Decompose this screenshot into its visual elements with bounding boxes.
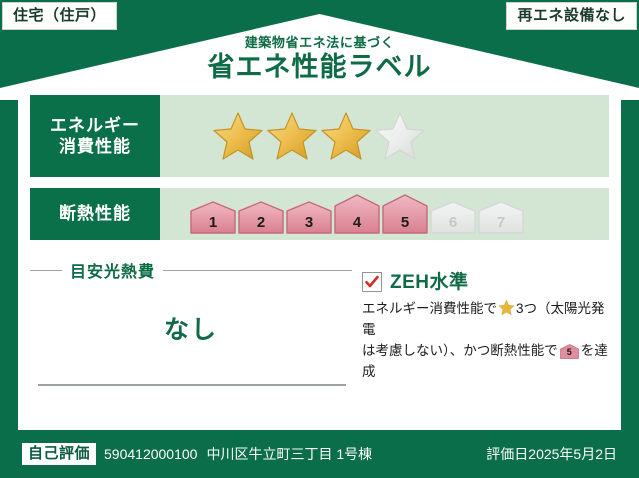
house-strip: 1234567 <box>190 194 526 234</box>
star-icon-filled <box>212 111 264 161</box>
footer-address: 中川区牛立町三丁目 1号棟 <box>206 444 372 464</box>
energy-performance-row: エネルギー 消費性能 <box>30 95 609 177</box>
star-icon-empty <box>374 111 426 161</box>
utility-cost-caption: 目安光熱費 <box>62 258 163 282</box>
self-evaluation-badge: 自己評価 <box>22 443 96 466</box>
badge-building-type: 住宅（住戸） <box>2 2 117 30</box>
energy-performance-label-line1: エネルギー <box>50 115 140 136</box>
check-icon <box>364 274 380 290</box>
house-level-2: 2 <box>238 201 284 234</box>
footer-bar: 自己評価 590412000100 中川区牛立町三丁目 1号棟 評価日2025年… <box>0 430 639 478</box>
house-icon-inline-number: 5 <box>560 348 579 357</box>
star-icon-filled <box>266 111 318 161</box>
house-level-number: 2 <box>238 215 284 230</box>
lower-section: 目安光熱費 なし ZEH水準 エネルギー消費性能で 3つ（太陽光発電 は考 <box>30 254 609 404</box>
zeh-section: ZEH水準 エネルギー消費性能で 3つ（太陽光発電 は考慮しない）、かつ断熱性能… <box>352 254 609 404</box>
utility-cost-section: 目安光熱費 なし <box>30 254 352 404</box>
rule-left <box>30 270 62 271</box>
star-icon-inline <box>498 299 515 316</box>
star-icon-filled <box>320 111 372 161</box>
energy-performance-stars <box>160 95 609 177</box>
insulation-performance-label: 断熱性能 <box>30 188 160 240</box>
zeh-desc-part2: は考慮しない）、かつ断熱性能で <box>362 343 558 358</box>
house-level-number: 4 <box>334 215 380 230</box>
utility-cost-value: なし <box>30 310 352 346</box>
energy-performance-label-line2: 消費性能 <box>59 136 131 157</box>
zeh-checkbox[interactable] <box>362 272 382 292</box>
house-level-7: 7 <box>478 201 524 234</box>
footer-date: 評価日2025年5月2日 <box>486 444 617 464</box>
label-panel: エネルギー 消費性能 断熱性能 1234567 目安光熱費 なし <box>18 85 621 430</box>
energy-performance-label: エネルギー 消費性能 <box>30 95 160 177</box>
house-level-1: 1 <box>190 201 236 234</box>
footer-id: 590412000100 <box>104 446 197 462</box>
house-level-number: 5 <box>382 215 428 230</box>
house-level-number: 3 <box>286 215 332 230</box>
house-level-number: 7 <box>478 215 524 230</box>
house-icon-inline: 5 <box>560 344 579 359</box>
house-level-number: 1 <box>190 215 236 230</box>
insulation-performance-row: 断熱性能 1234567 <box>30 188 609 240</box>
zeh-desc-part1: エネルギー消費性能で <box>362 301 497 316</box>
house-level-3: 3 <box>286 201 332 234</box>
zeh-description: エネルギー消費性能で 3つ（太陽光発電 は考慮しない）、かつ断熱性能で 5 を達… <box>362 299 609 383</box>
rule-right <box>163 270 352 271</box>
insulation-performance-label-text: 断熱性能 <box>59 203 131 224</box>
utility-cost-bottom-rule <box>38 384 346 386</box>
house-level-4: 4 <box>334 194 380 234</box>
badge-renewable-energy: 再エネ設備なし <box>506 2 637 30</box>
zeh-header: ZEH水準 <box>362 272 609 292</box>
house-level-5: 5 <box>382 194 428 234</box>
insulation-performance-scale: 1234567 <box>160 188 609 240</box>
house-level-number: 6 <box>430 215 476 230</box>
zeh-title: ZEH水準 <box>390 273 469 292</box>
house-level-6: 6 <box>430 201 476 234</box>
utility-cost-header: 目安光熱費 <box>30 258 352 282</box>
